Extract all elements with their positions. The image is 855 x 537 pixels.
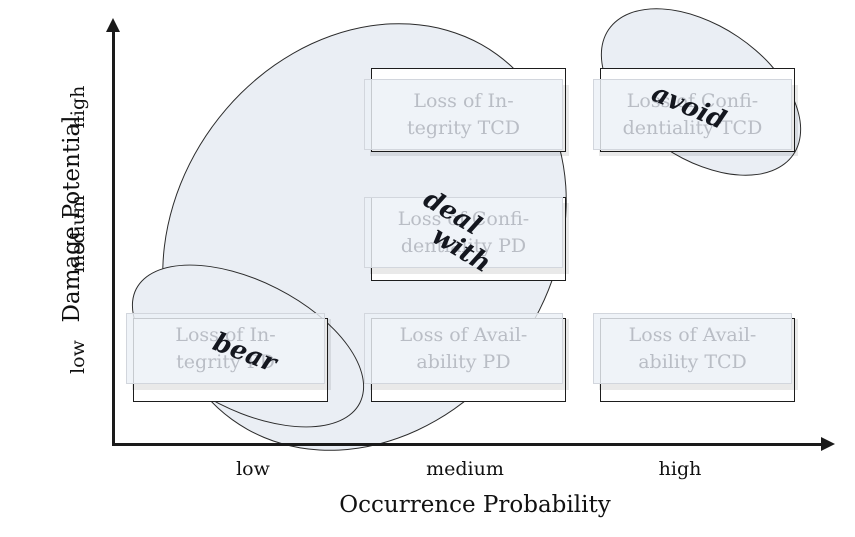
cell-label-integrity-tcd: Loss of In- tegrity TCD	[407, 88, 520, 140]
x-axis-line	[112, 443, 828, 446]
y-axis-arrow-icon	[106, 18, 120, 32]
cell-text-line2: ability PD	[400, 349, 528, 375]
cell-text-line2: tegrity TCD	[407, 115, 520, 141]
y-axis-line	[112, 28, 115, 446]
cell-availability-pd[interactable]: Loss of Avail- ability PD	[364, 313, 563, 384]
x-axis-tick-medium: medium	[395, 458, 535, 480]
cell-label-availability-tcd: Loss of Avail- ability TCD	[629, 322, 757, 374]
x-axis-tick-low: low	[183, 458, 323, 480]
cell-text-line1: Loss of Avail-	[400, 322, 528, 348]
y-axis-tick-low: low	[67, 297, 89, 417]
risk-matrix-diagram: Loss of In- tegrity TCD Loss of Confi- d…	[0, 0, 855, 537]
cell-text-line1: Loss of Avail-	[629, 322, 757, 348]
cell-label-availability-pd: Loss of Avail- ability PD	[400, 322, 528, 374]
x-axis-tick-high: high	[610, 458, 750, 480]
x-axis-title: Occurrence Probability	[275, 492, 675, 518]
y-axis-tick-high: high	[67, 47, 89, 167]
x-axis-arrow-icon	[821, 437, 835, 451]
y-axis-tick-medium: medium	[67, 174, 89, 294]
cell-text-line1: Loss of In-	[407, 88, 520, 114]
cell-text-line2: ability TCD	[629, 349, 757, 375]
cell-integrity-tcd[interactable]: Loss of In- tegrity TCD	[364, 79, 563, 150]
cell-availability-tcd[interactable]: Loss of Avail- ability TCD	[593, 313, 792, 384]
